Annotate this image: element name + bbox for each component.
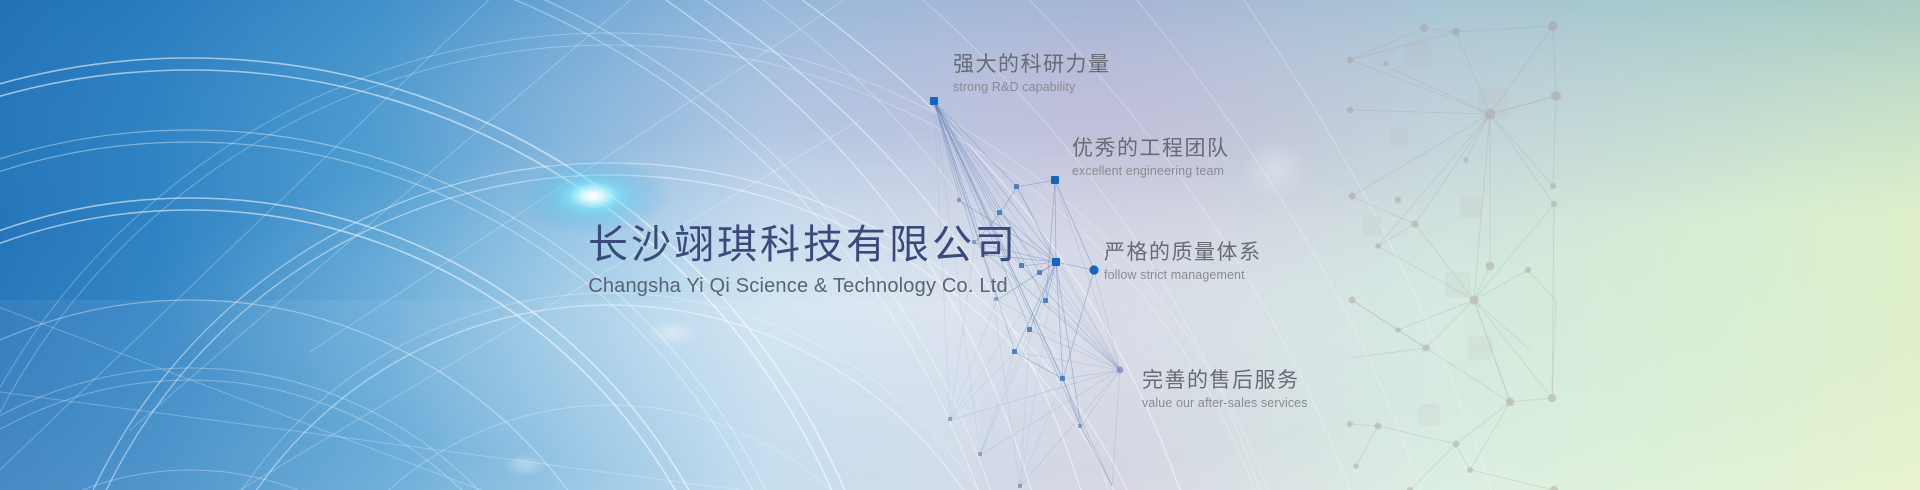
feature-title-cn: 优秀的工程团队 <box>1072 136 1230 161</box>
feature-title-cn: 完善的售后服务 <box>1142 368 1308 393</box>
feature-title-en: excellent engineering team <box>1072 164 1230 178</box>
feature-title-en: follow strict management <box>1104 268 1262 282</box>
company-hero-banner: 长沙翊琪科技有限公司 Changsha Yi Qi Science & Tech… <box>0 0 1920 490</box>
feature-title-cn: 强大的科研力量 <box>953 52 1111 77</box>
feature-callout-quality: 严格的质量体系 follow strict management <box>1104 240 1262 282</box>
feature-title-en: strong R&D capability <box>953 80 1111 94</box>
feature-callout-team: 优秀的工程团队 excellent engineering team <box>1072 136 1230 178</box>
feature-title-en: value our after-sales services <box>1142 396 1308 410</box>
feature-title-cn: 严格的质量体系 <box>1104 240 1262 265</box>
feature-callout-rd: 强大的科研力量 strong R&D capability <box>953 52 1111 94</box>
feature-callout-service: 完善的售后服务 value our after-sales services <box>1142 368 1308 410</box>
